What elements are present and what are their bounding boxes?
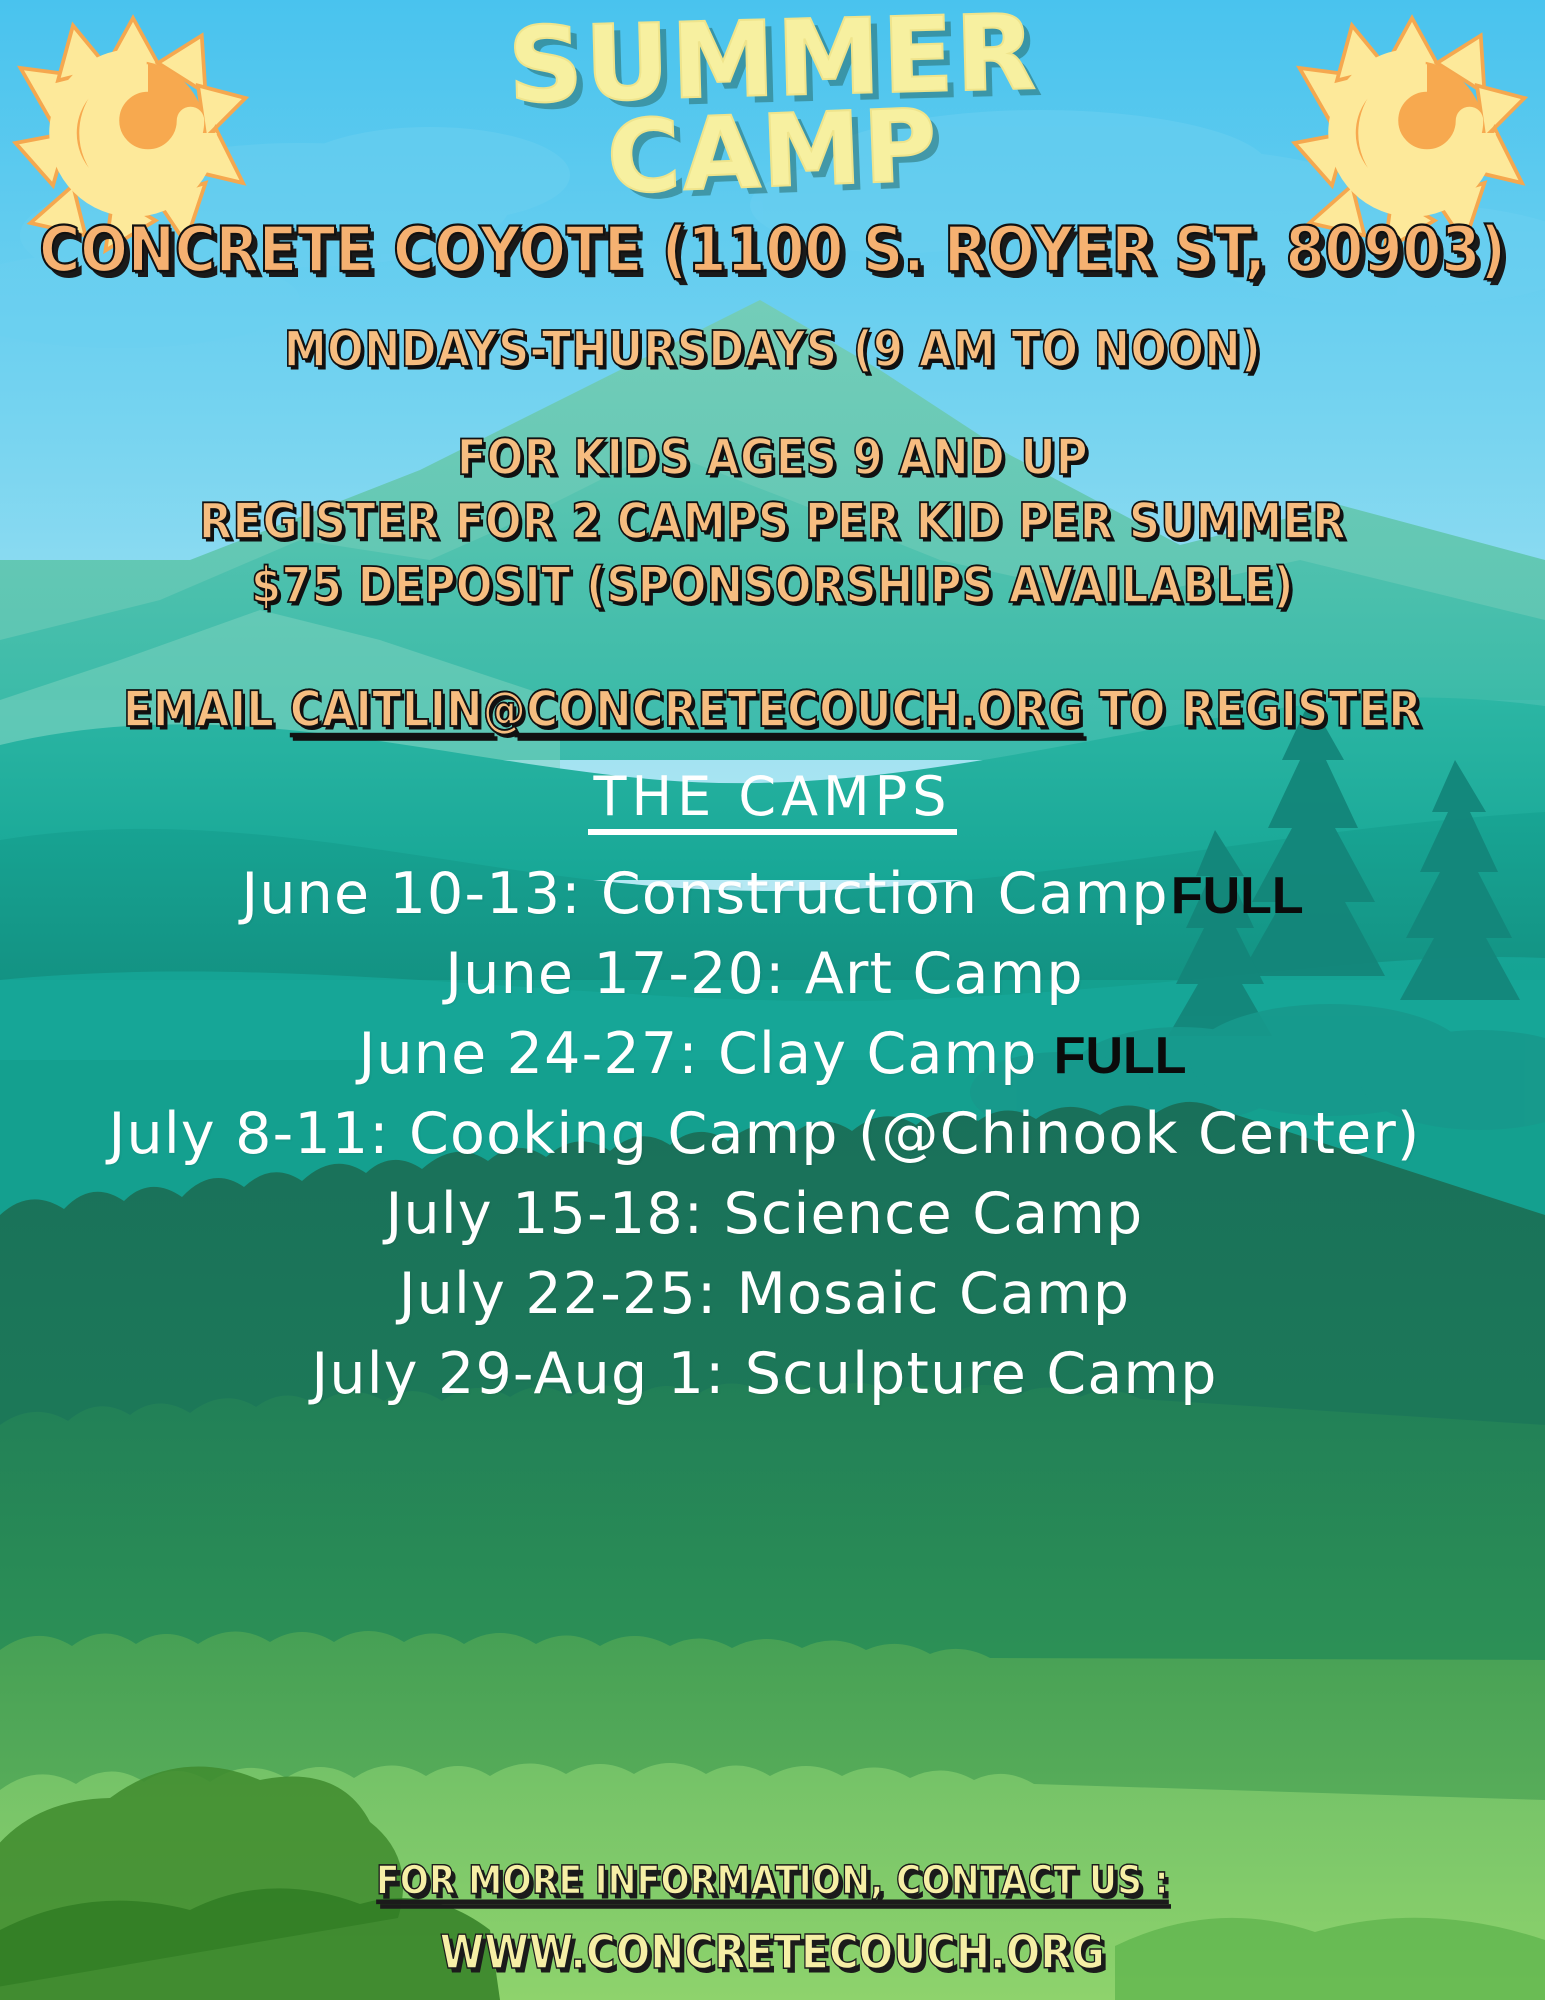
email-suffix-text: TO REGISTER (1084, 681, 1422, 738)
list-item: June 17-20: Art Camp (0, 941, 1545, 1007)
camp-label: July 15-18: Science Camp (386, 1181, 1144, 1247)
page-title: SUMMER CAMP (508, 14, 1037, 196)
status-badge: FULL (1054, 1026, 1187, 1086)
schedule-days-hours: MONDAYS-THURSDAYS (9 AM TO NOON) (284, 321, 1261, 378)
camp-label: June 17-20: Art Camp (445, 941, 1084, 1007)
registration-info: FOR KIDS AGES 9 AND UP REGISTER FOR 2 CA… (199, 433, 1346, 611)
camp-label: July 29-Aug 1: Sculpture Camp (311, 1341, 1217, 1407)
footer-contact: FOR MORE INFORMATION, CONTACT US : WWW.C… (0, 1855, 1545, 1984)
info-deposit: $75 DEPOSIT (SPONSORSHIPS AVAILABLE) (251, 557, 1294, 614)
list-item: July 29-Aug 1: Sculpture Camp (0, 1341, 1545, 1407)
camps-list: June 10-13: Construction Camp FULL June … (0, 861, 1545, 1407)
camps-section-heading: THE CAMPS (588, 769, 958, 836)
venue-address: CONCRETE COYOTE (1100 S. ROYER ST, 80903… (39, 214, 1506, 287)
camp-label: June 24-27: Clay Camp (358, 1021, 1037, 1087)
list-item: July 15-18: Science Camp (0, 1181, 1545, 1247)
status-badge: FULL (1171, 866, 1304, 926)
email-prefix-text: EMAIL (123, 681, 290, 738)
list-item: July 22-25: Mosaic Camp (0, 1261, 1545, 1327)
list-item: June 24-27: Clay Camp FULL (0, 1021, 1545, 1087)
summer-camp-flyer: SUMMER CAMP CONCRETE COYOTE (1100 S. ROY… (0, 0, 1545, 2000)
camp-label: July 8-11: Cooking Camp (@Chinook Center… (109, 1101, 1421, 1167)
camp-label: June 10-13: Construction Camp (241, 861, 1169, 927)
email-address-link[interactable]: CAITLIN@CONCRETECOUCH.ORG (290, 681, 1084, 738)
flyer-content: SUMMER CAMP CONCRETE COYOTE (1100 S. ROY… (0, 0, 1545, 2000)
list-item: June 10-13: Construction Camp FULL (0, 861, 1545, 927)
email-register-line: EMAIL CAITLIN@CONCRETECOUCH.ORG TO REGIS… (123, 681, 1422, 738)
footer-website[interactable]: WWW.CONCRETECOUCH.ORG (0, 1917, 1545, 1989)
list-item: July 8-11: Cooking Camp (@Chinook Center… (0, 1101, 1545, 1167)
camp-label: July 22-25: Mosaic Camp (399, 1261, 1131, 1327)
footer-contact-label: FOR MORE INFORMATION, CONTACT US : (0, 1851, 1545, 1912)
info-camps-per-kid: REGISTER FOR 2 CAMPS PER KID PER SUMMER (199, 493, 1346, 550)
info-age-requirement: FOR KIDS AGES 9 AND UP (457, 429, 1088, 486)
